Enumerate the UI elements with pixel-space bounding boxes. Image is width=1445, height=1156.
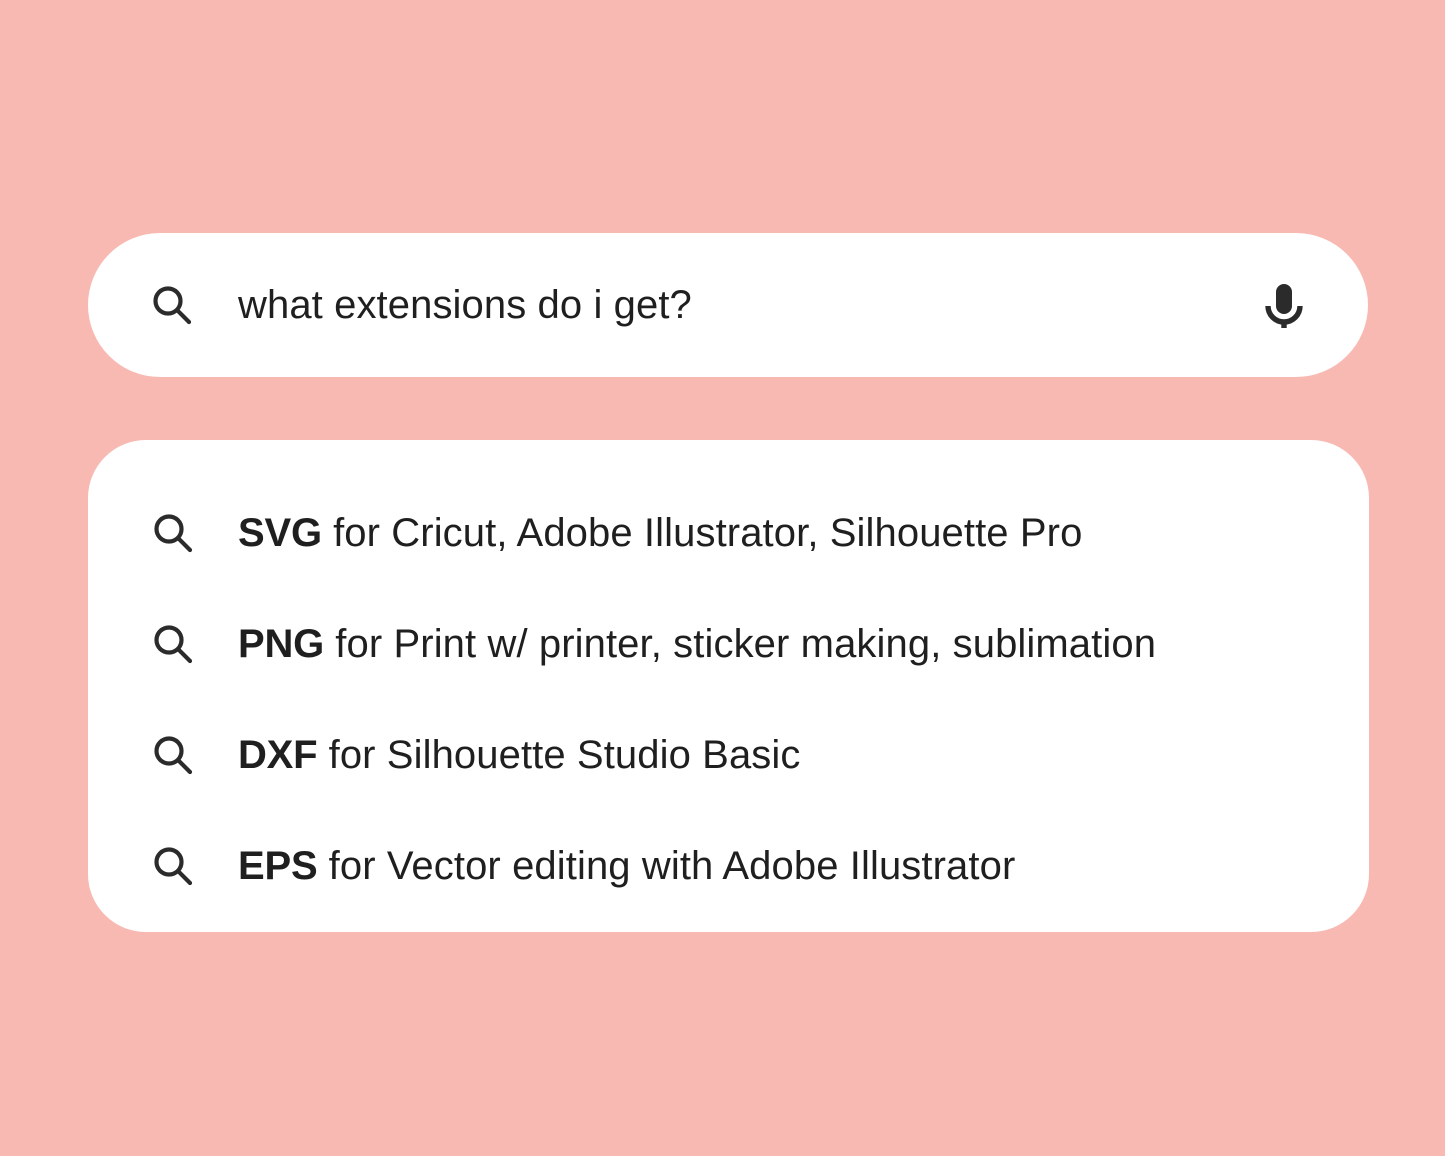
format-description: for Cricut, Adobe Illustrator, Silhouett… [322, 511, 1083, 555]
search-icon [151, 622, 195, 666]
suggestion-item-dxf[interactable]: DXF for Silhouette Studio Basic [88, 699, 1369, 810]
format-tag: EPS [238, 844, 317, 888]
format-description: for Silhouette Studio Basic [317, 733, 800, 777]
microphone-icon [1257, 278, 1311, 332]
format-description: for Print w/ printer, sticker making, su… [324, 622, 1156, 666]
search-icon [151, 511, 195, 555]
suggestion-label: DXF for Silhouette Studio Basic [238, 735, 800, 775]
format-tag: SVG [238, 511, 322, 555]
search-icon [151, 844, 195, 888]
suggestion-item-png[interactable]: PNG for Print w/ printer, sticker making… [88, 588, 1369, 699]
search-bar[interactable]: what extensions do i get? [88, 233, 1368, 377]
suggestion-item-eps[interactable]: EPS for Vector editing with Adobe Illust… [88, 810, 1369, 921]
format-tag: DXF [238, 733, 317, 777]
search-icon [151, 733, 195, 777]
suggestion-label: PNG for Print w/ printer, sticker making… [238, 624, 1156, 664]
search-input[interactable]: what extensions do i get? [238, 285, 692, 325]
format-description: for Vector editing with Adobe Illustrato… [317, 844, 1015, 888]
suggestion-item-svg[interactable]: SVG for Cricut, Adobe Illustrator, Silho… [88, 477, 1369, 588]
suggestion-label: EPS for Vector editing with Adobe Illust… [238, 846, 1015, 886]
search-icon [150, 283, 194, 327]
format-tag: PNG [238, 622, 324, 666]
microphone-button[interactable] [1248, 269, 1320, 341]
suggestions-card: SVG for Cricut, Adobe Illustrator, Silho… [88, 440, 1369, 932]
suggestion-label: SVG for Cricut, Adobe Illustrator, Silho… [238, 513, 1082, 553]
